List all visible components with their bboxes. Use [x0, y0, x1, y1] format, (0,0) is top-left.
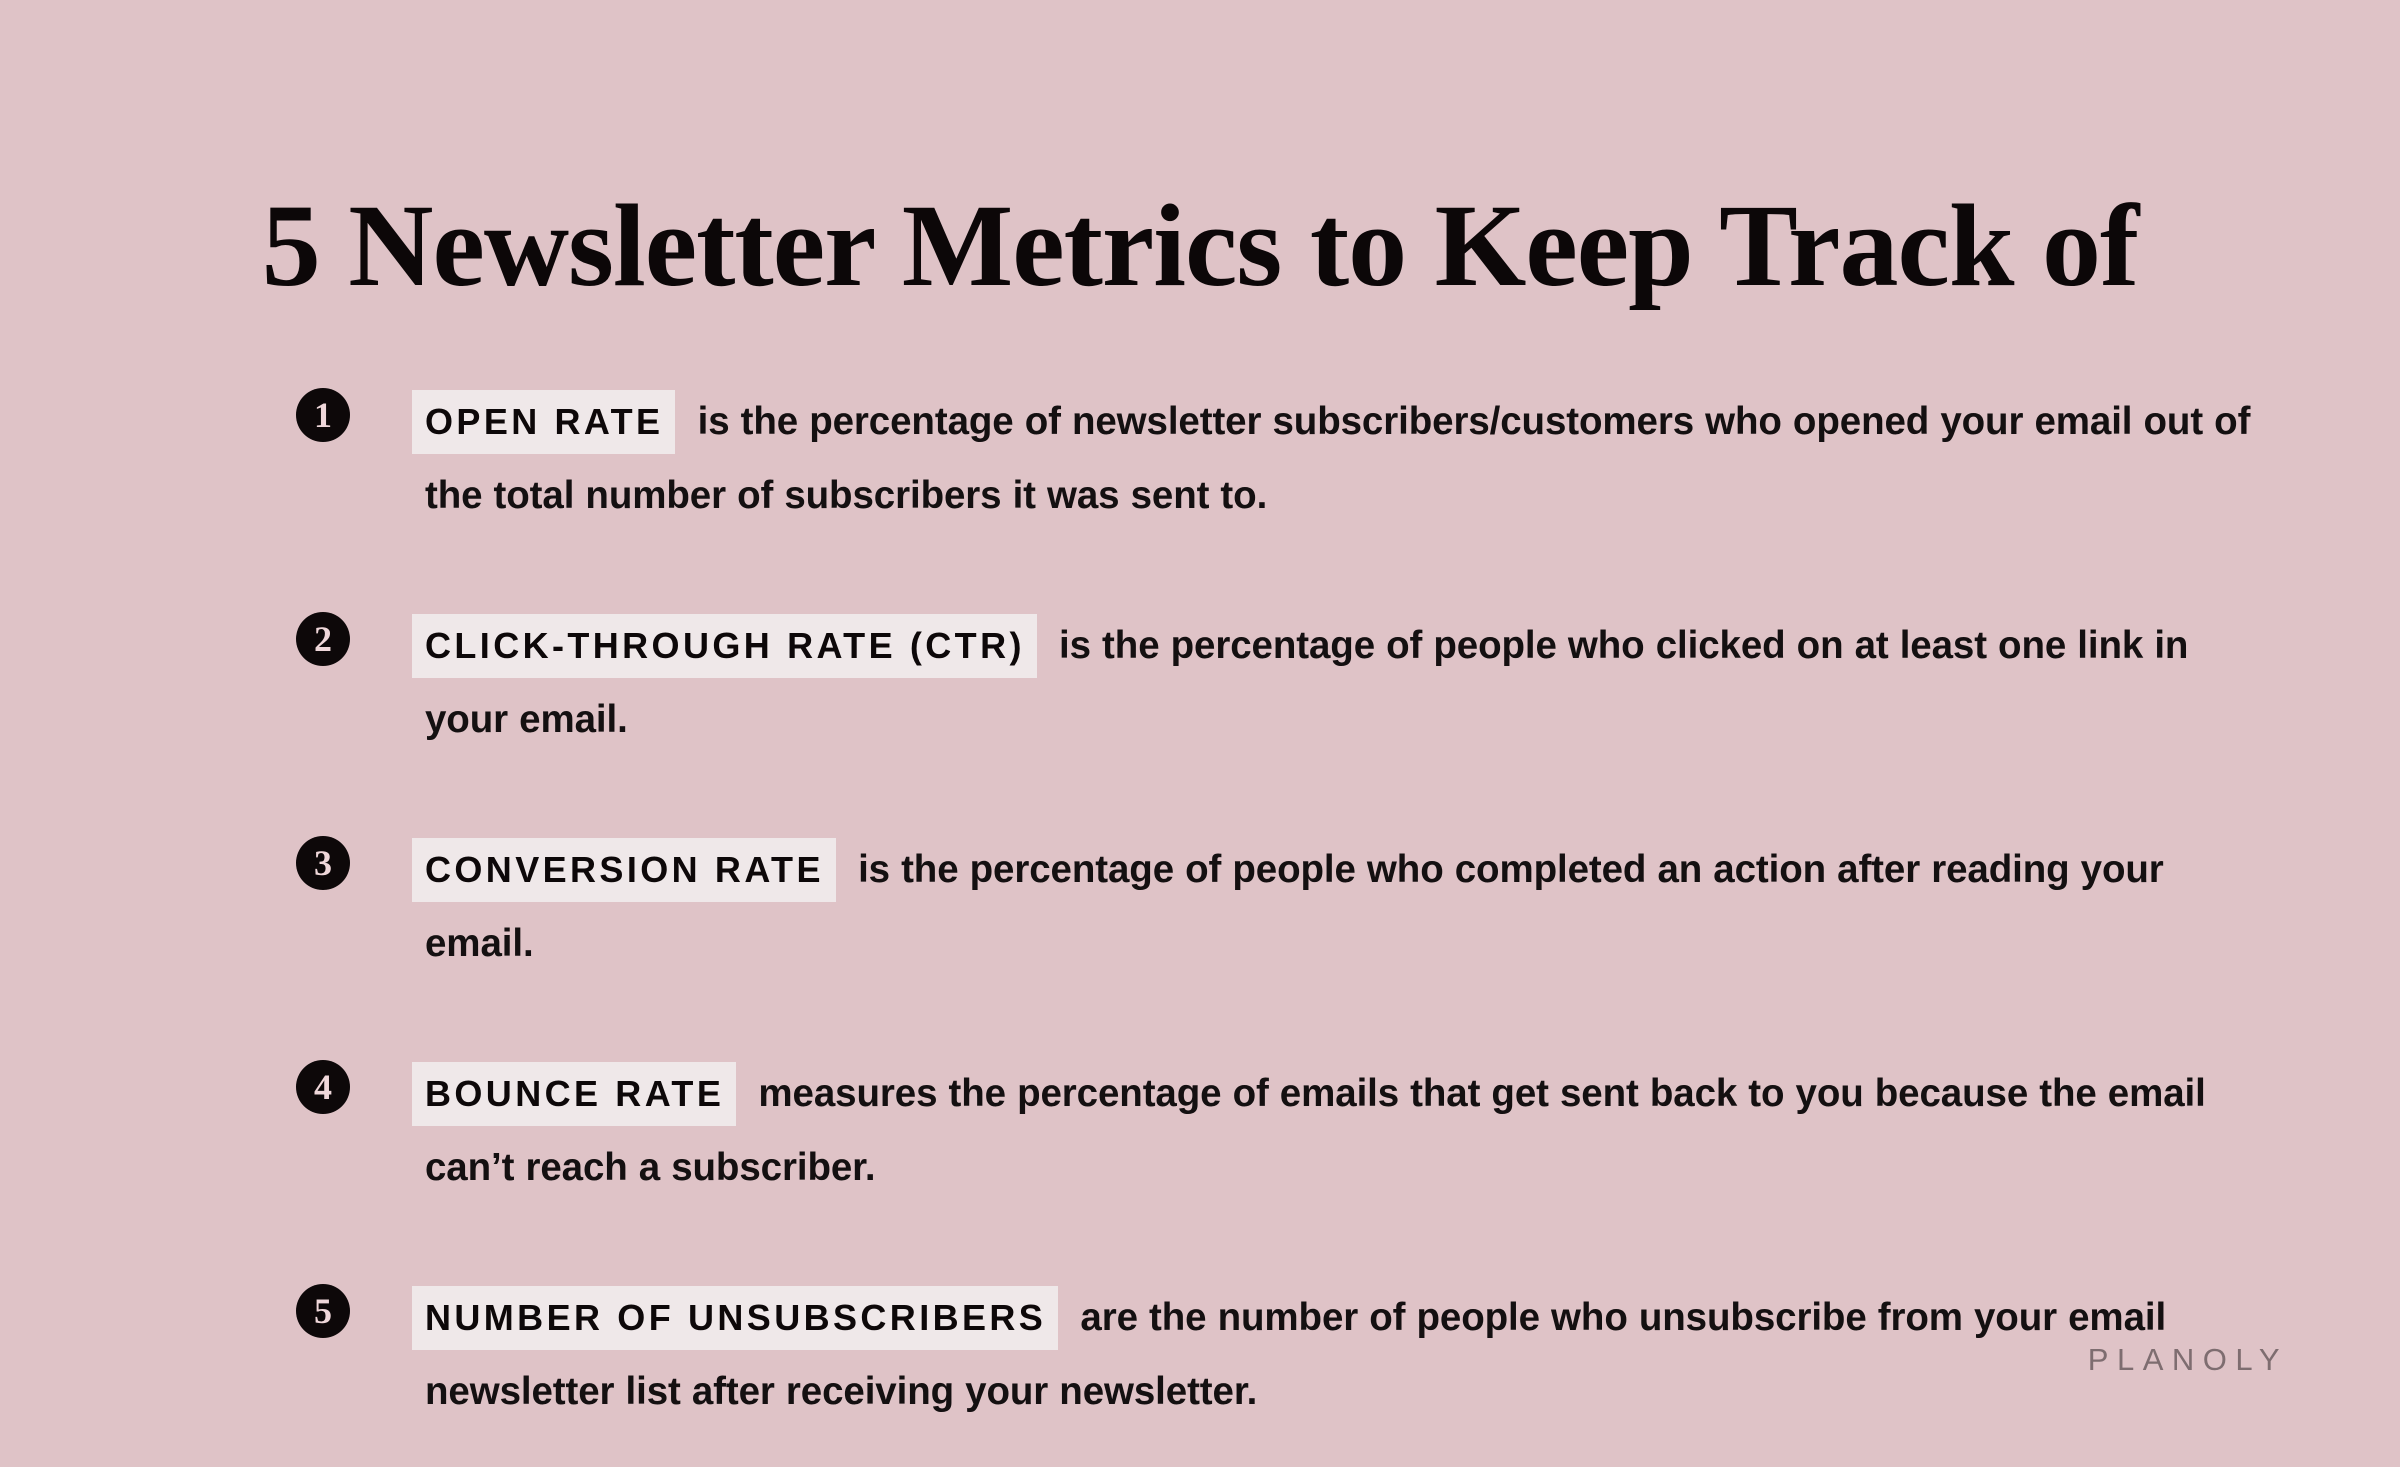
metrics-list: 1 OPEN RATE is the percentage of newslet… — [296, 346, 2276, 1467]
list-item: 4 BOUNCE RATE measures the percentage of… — [296, 1057, 2276, 1205]
number-badge: 2 — [296, 612, 350, 666]
planoly-watermark: PLANOLY — [2088, 1342, 2288, 1378]
page-title: 5 Newsletter Metrics to Keep Track of — [0, 187, 2400, 305]
metric-text: CLICK-THROUGH RATE (CTR) is the percenta… — [425, 609, 2276, 757]
metric-description: is the percentage of newsletter subscrib… — [425, 400, 2250, 517]
metric-term: CLICK-THROUGH RATE (CTR) — [412, 614, 1037, 678]
metric-term: CONVERSION RATE — [412, 838, 836, 902]
number-badge: 1 — [296, 388, 350, 442]
slide-canvas: 5 Newsletter Metrics to Keep Track of 1 … — [0, 0, 2400, 1456]
list-item: 1 OPEN RATE is the percentage of newslet… — [296, 385, 2276, 533]
number-badge: 5 — [296, 1284, 350, 1338]
metric-term: OPEN RATE — [412, 390, 675, 454]
metric-text: BOUNCE RATE measures the percentage of e… — [425, 1057, 2276, 1205]
metric-text: OPEN RATE is the percentage of newslette… — [425, 385, 2276, 533]
metric-text: NUMBER OF UNSUBSCRIBERS are the number o… — [425, 1281, 2276, 1429]
number-badge: 4 — [296, 1060, 350, 1114]
list-item: 2 CLICK-THROUGH RATE (CTR) is the percen… — [296, 609, 2276, 757]
metric-term: NUMBER OF UNSUBSCRIBERS — [412, 1286, 1058, 1350]
metric-term: BOUNCE RATE — [412, 1062, 736, 1126]
metric-text: CONVERSION RATE is the percentage of peo… — [425, 833, 2276, 981]
list-item: 5 NUMBER OF UNSUBSCRIBERS are the number… — [296, 1281, 2276, 1429]
number-badge: 3 — [296, 836, 350, 890]
list-item: 3 CONVERSION RATE is the percentage of p… — [296, 833, 2276, 981]
